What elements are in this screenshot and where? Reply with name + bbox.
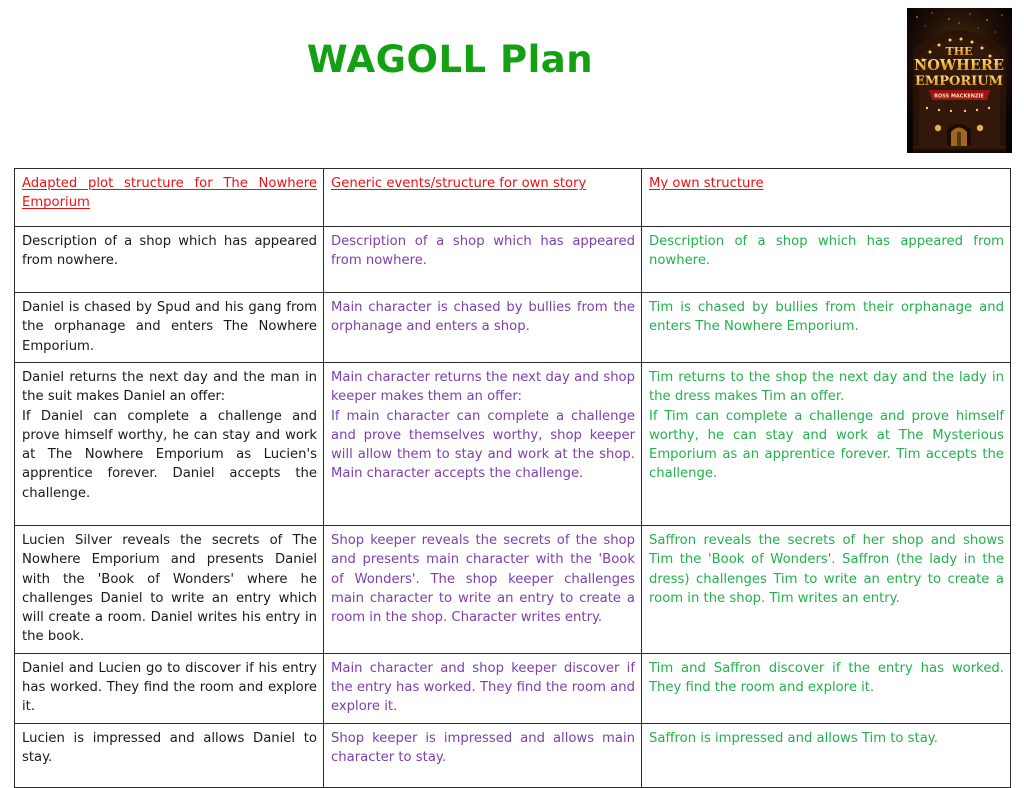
cell-generic: Shop keeper is impressed and allows main… [324, 723, 642, 787]
cell-text: If main character can complete a challen… [331, 407, 635, 484]
cell-text: Description of a shop which has appeared… [22, 232, 317, 271]
table-header-label-original: Adapted plot structure for The Nowhere E… [22, 176, 317, 210]
table-header-cell-original: Adapted plot structure for The Nowhere E… [15, 169, 324, 227]
cell-text: Main character is chased by bullies from… [331, 298, 635, 337]
cell-text: Shop keeper is impressed and allows main… [331, 729, 635, 768]
table-header-label-own: My own structure [649, 176, 764, 191]
cell-text: Daniel returns the next day and the man … [22, 368, 317, 407]
cell-own: Saffron reveals the secrets of her shop … [642, 526, 1011, 654]
wagoll-plan-table-container: Adapted plot structure for The Nowhere E… [14, 168, 1010, 788]
book-cover-title-emporium: EMPORIUM [915, 74, 1003, 89]
cell-generic: Description of a shop which has appeared… [324, 227, 642, 293]
table-row: Daniel is chased by Spud and his gang fr… [15, 293, 1011, 363]
cell-text: Daniel is chased by Spud and his gang fr… [22, 298, 317, 356]
cell-text: Main character and shop keeper discover … [331, 659, 635, 717]
cell-text: Tim is chased by bullies from their orph… [649, 298, 1004, 337]
cell-generic: Main character and shop keeper discover … [324, 653, 642, 723]
cell-original: Lucien is impressed and allows Daniel to… [15, 723, 324, 787]
table-row: Lucien is impressed and allows Daniel to… [15, 723, 1011, 787]
cell-text: If Tim can complete a challenge and prov… [649, 407, 1004, 484]
table-row: Lucien Silver reveals the secrets of The… [15, 526, 1011, 654]
cell-text: Description of a shop which has appeared… [649, 232, 1004, 271]
cell-generic: Shop keeper reveals the secrets of the s… [324, 526, 642, 654]
cell-own: Saffron is impressed and allows Tim to s… [642, 723, 1011, 787]
table-header-label-generic: Generic events/structure for own story [331, 176, 586, 191]
cell-text: Main character returns the next day and … [331, 368, 635, 407]
cell-text: Saffron is impressed and allows Tim to s… [649, 729, 1004, 748]
cell-generic: Main character returns the next day and … [324, 363, 642, 526]
cell-text: Lucien Silver reveals the secrets of The… [22, 531, 317, 647]
table-row: Daniel and Lucien go to discover if his … [15, 653, 1011, 723]
cell-original: Daniel is chased by Spud and his gang fr… [15, 293, 324, 363]
cell-own: Tim returns to the shop the next day and… [642, 363, 1011, 526]
book-cover-title-nowhere: NOWHERE [914, 57, 1004, 74]
wagoll-plan-table: Adapted plot structure for The Nowhere E… [14, 168, 1011, 788]
cell-text: Tim and Saffron discover if the entry ha… [649, 659, 1004, 698]
cell-text: Tim returns to the shop the next day and… [649, 368, 1004, 407]
book-cover-author: ROSS MACKENZIE [934, 94, 984, 100]
table-row: Daniel returns the next day and the man … [15, 363, 1011, 526]
cell-text: Daniel and Lucien go to discover if his … [22, 659, 317, 717]
cell-text: If Daniel can complete a challenge and p… [22, 407, 317, 503]
cell-original: Description of a shop which has appeared… [15, 227, 324, 293]
cell-original: Daniel and Lucien go to discover if his … [15, 653, 324, 723]
cell-generic: Main character is chased by bullies from… [324, 293, 642, 363]
table-header-cell-own: My own structure [642, 169, 1011, 227]
cell-own: Description of a shop which has appeared… [642, 227, 1011, 293]
cell-own: Tim and Saffron discover if the entry ha… [642, 653, 1011, 723]
cell-text: Saffron reveals the secrets of her shop … [649, 531, 1004, 608]
page-title: WAGOLL Plan [0, 38, 900, 81]
cell-original: Lucien Silver reveals the secrets of The… [15, 526, 324, 654]
table-header-row: Adapted plot structure for The Nowhere E… [15, 169, 1011, 227]
cell-text: Shop keeper reveals the secrets of the s… [331, 531, 635, 627]
cell-original: Daniel returns the next day and the man … [15, 363, 324, 526]
cell-text: Description of a shop which has appeared… [331, 232, 635, 271]
cell-own: Tim is chased by bullies from their orph… [642, 293, 1011, 363]
cell-text: Lucien is impressed and allows Daniel to… [22, 729, 317, 768]
the-nowhere-emporium-book-cover: THE NOWHERE EMPORIUM ROSS MACKENZIE [907, 8, 1012, 153]
table-header-cell-generic: Generic events/structure for own story [324, 169, 642, 227]
table-row: Description of a shop which has appeared… [15, 227, 1011, 293]
